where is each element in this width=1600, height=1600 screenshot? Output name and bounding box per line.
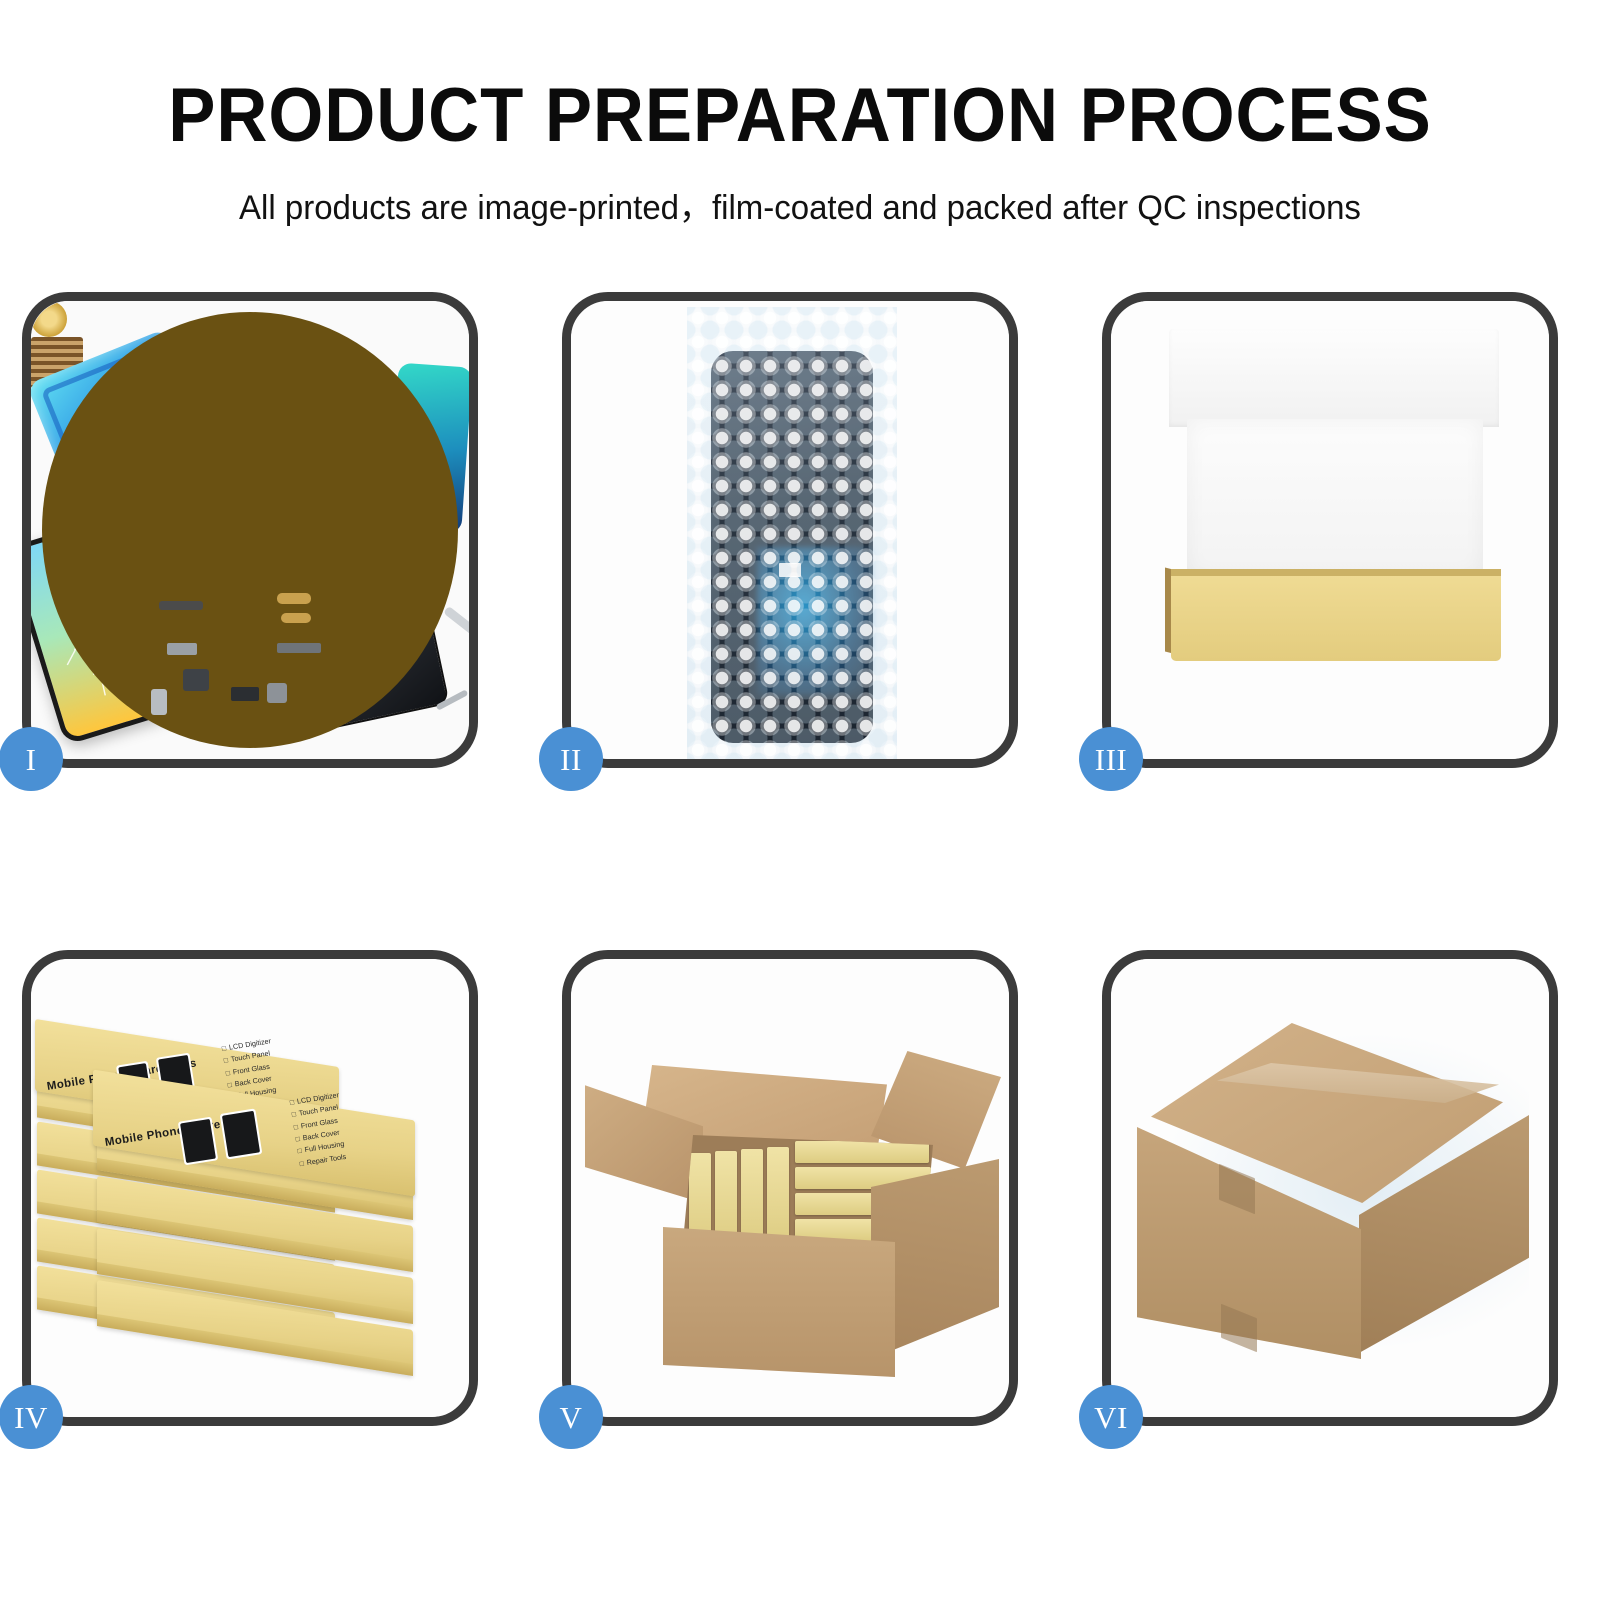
sealed-shipping-carton xyxy=(1111,959,1549,1417)
foam-liner-sheet xyxy=(1187,419,1483,577)
step-badge-6: VI xyxy=(1079,1385,1143,1449)
process-step-panel-1: I xyxy=(22,292,478,768)
process-step-panel-3: III xyxy=(1102,292,1558,768)
retail-box-screen-image-4 xyxy=(220,1108,263,1159)
step-badge-3: III xyxy=(1079,727,1143,791)
step-badge-4: IV xyxy=(0,1385,63,1449)
sim-ejector-part xyxy=(151,689,167,715)
process-step-panel-4: Mobile Phone Spare Parts LCD Digitizer T… xyxy=(22,950,478,1426)
packed-gold-box-4 xyxy=(767,1147,789,1247)
sim-tray-part xyxy=(267,683,287,703)
page-subtitle: All products are image-printed，film-coat… xyxy=(24,180,1576,229)
earpiece-speaker-part xyxy=(159,601,203,610)
camera-module-part xyxy=(183,669,209,691)
volume-flex-part xyxy=(277,643,321,653)
small-connector-part xyxy=(167,643,197,655)
step-badge-2: II xyxy=(539,727,603,791)
process-step-panel-2: II xyxy=(562,292,1018,768)
repair-tweezers-icon xyxy=(443,606,469,641)
box-front-panel xyxy=(1171,569,1501,661)
process-step-grid: I II III xyxy=(0,292,1600,1452)
retail-box-screen-image-3 xyxy=(178,1117,218,1166)
page-header: PRODUCT PREPARATION PROCESS All products… xyxy=(0,0,1600,229)
stacked-retail-boxes: Mobile Phone Spare Parts LCD Digitizer T… xyxy=(31,959,469,1417)
vibration-motor-part xyxy=(231,687,259,701)
step-badge-1: I xyxy=(0,727,63,791)
bubble-texture-overlay xyxy=(687,307,897,759)
flex-cable-part-1 xyxy=(277,593,311,604)
box-lid-flap xyxy=(1169,329,1499,427)
flex-cable-part-2 xyxy=(281,613,311,623)
carton-front-panel xyxy=(663,1227,895,1377)
product-parts-collage xyxy=(31,301,469,759)
retail-box-checklist-front: LCD Digitizer Touch Panel Front Glass Ba… xyxy=(289,1089,350,1170)
process-step-panel-6: VI xyxy=(1102,950,1558,1426)
bubble-wrap-sleeve xyxy=(687,307,897,759)
box-front-edge xyxy=(1171,569,1501,576)
bubble-wrapped-screen xyxy=(571,301,1009,759)
process-step-panel-5: V xyxy=(562,950,1018,1426)
open-shipping-carton xyxy=(571,959,1009,1417)
open-gold-retail-box xyxy=(1111,301,1549,759)
wireless-charging-coil xyxy=(31,301,67,337)
packed-gold-box-5 xyxy=(795,1141,929,1163)
page-title: PRODUCT PREPARATION PROCESS xyxy=(56,78,1544,154)
step-badge-5: V xyxy=(539,1385,603,1449)
